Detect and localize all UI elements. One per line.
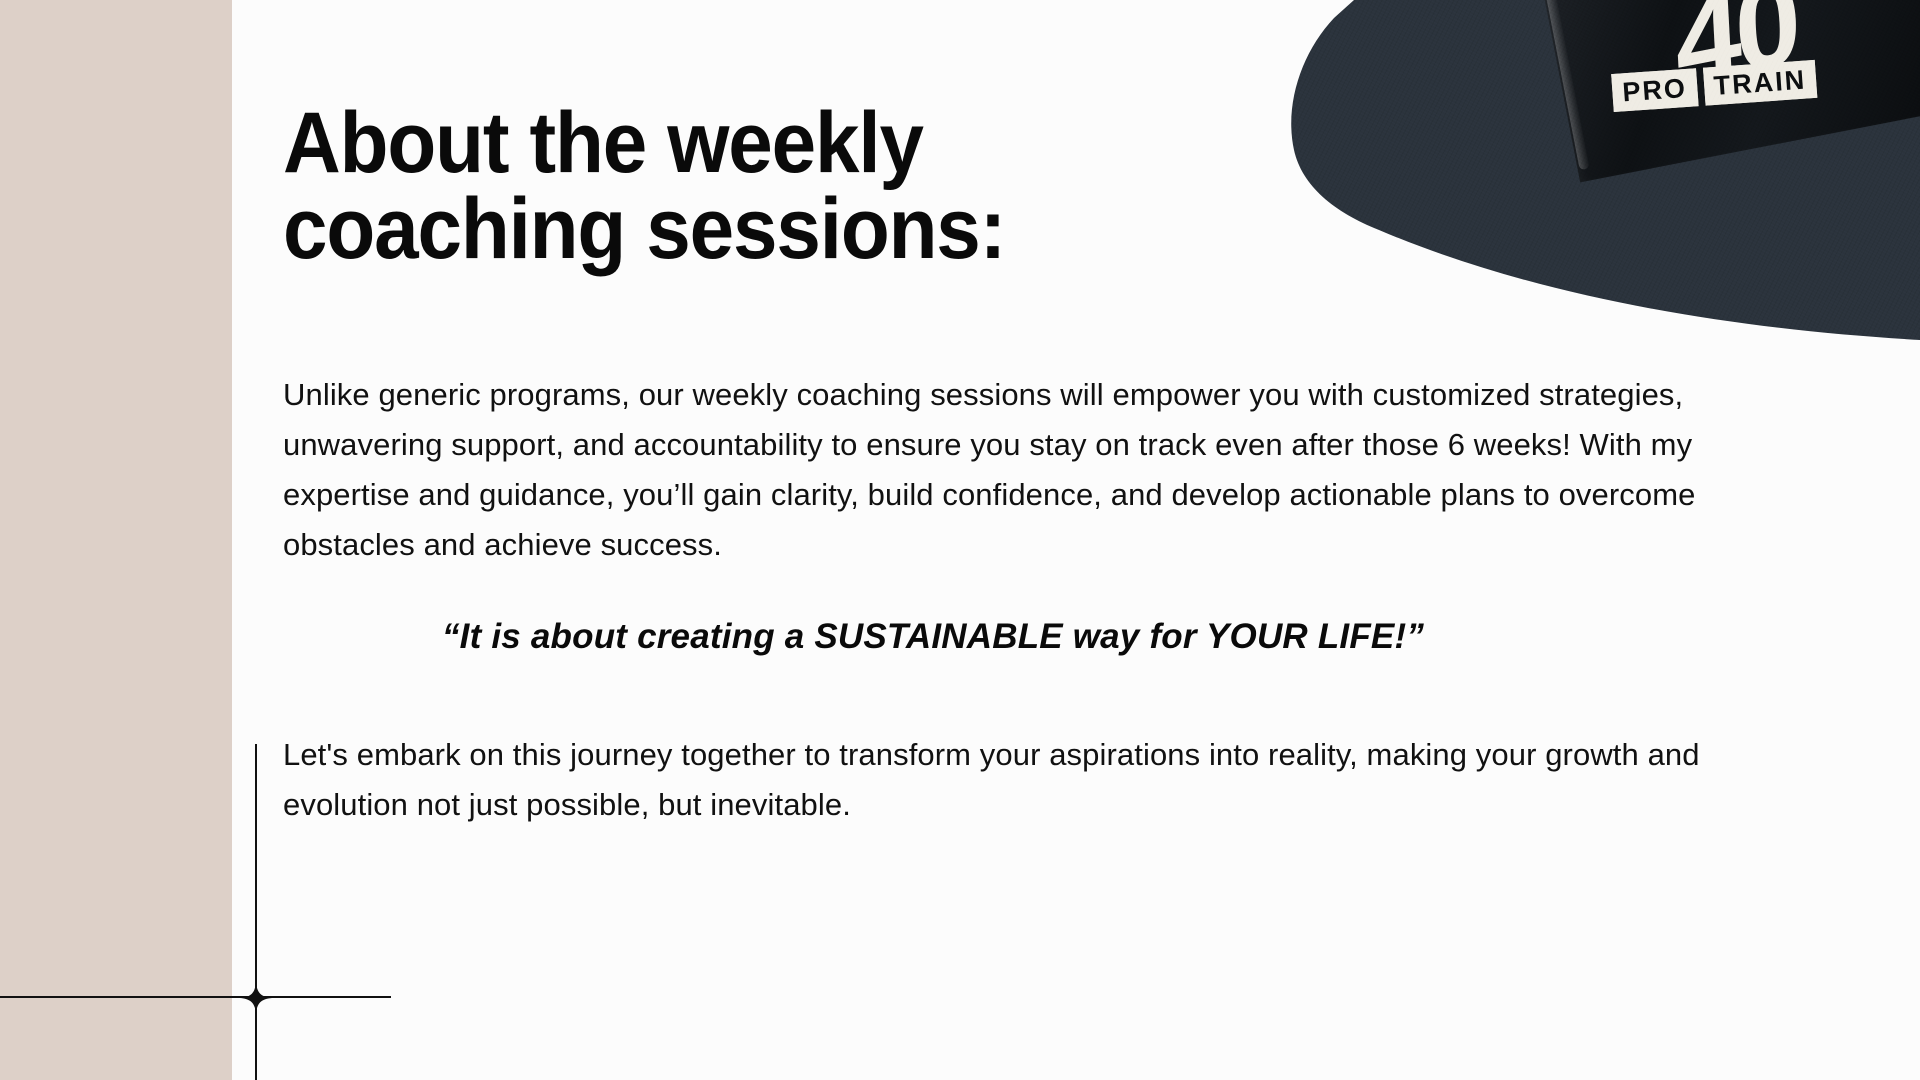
sparkle-icon-bottom-left xyxy=(240,982,272,1014)
body-paragraph-2: Let's embark on this journey together to… xyxy=(283,730,1703,830)
slide-content: About the weekly coaching sessions: Unli… xyxy=(283,0,1753,1080)
body-paragraph-1: Unlike generic programs, our weekly coac… xyxy=(283,370,1738,570)
page-title: About the weekly coaching sessions: xyxy=(283,100,1120,272)
left-accent-band xyxy=(0,0,232,1080)
vertical-rule-bottom-left xyxy=(255,744,257,1080)
pull-quote: “It is about creating a SUSTAINABLE way … xyxy=(283,616,1583,658)
slide-canvas: 40 PRO TRAIN About the weekly coaching s… xyxy=(0,0,1920,1080)
